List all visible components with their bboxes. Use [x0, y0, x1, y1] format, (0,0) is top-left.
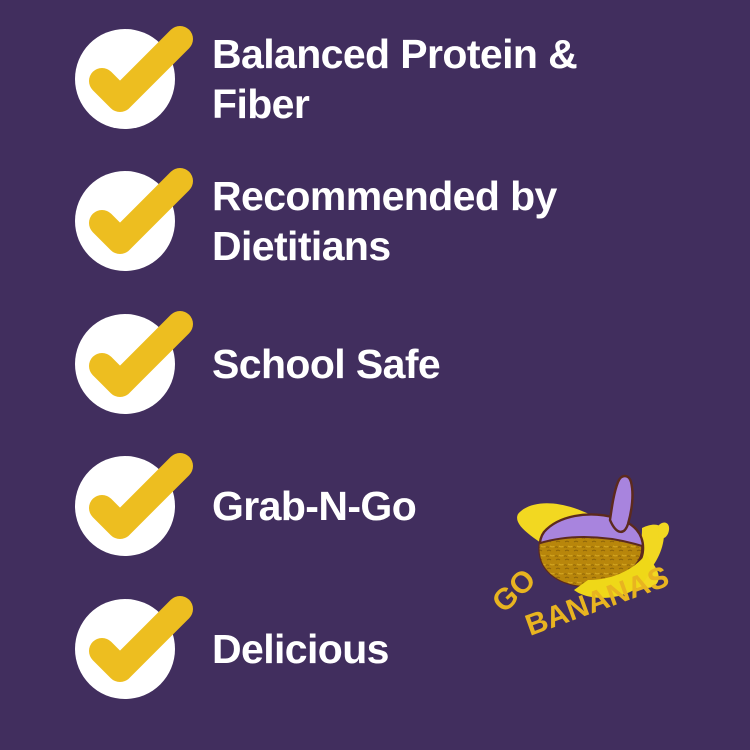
benefit-row: Grab-N-Go — [62, 447, 416, 565]
check-icon — [62, 23, 200, 135]
benefit-label: Grab-N-Go — [212, 481, 416, 531]
check-icon — [62, 308, 200, 420]
go-bananas-logo: GO BANANAS — [492, 468, 710, 664]
benefit-label: School Safe — [212, 339, 440, 389]
benefit-row: Delicious — [62, 590, 389, 708]
benefit-label: Balanced Protein & Fiber — [212, 29, 577, 129]
check-icon — [62, 593, 200, 705]
benefit-row: Recommended by Dietitians — [62, 162, 557, 280]
benefit-row: Balanced Protein & Fiber — [62, 20, 577, 138]
check-icon — [62, 450, 200, 562]
check-icon — [62, 165, 200, 277]
benefit-label: Recommended by Dietitians — [212, 171, 557, 271]
promo-poster: Balanced Protein & Fiber Recommended by … — [0, 0, 750, 750]
benefit-row: School Safe — [62, 305, 440, 423]
benefit-label: Delicious — [212, 624, 389, 674]
